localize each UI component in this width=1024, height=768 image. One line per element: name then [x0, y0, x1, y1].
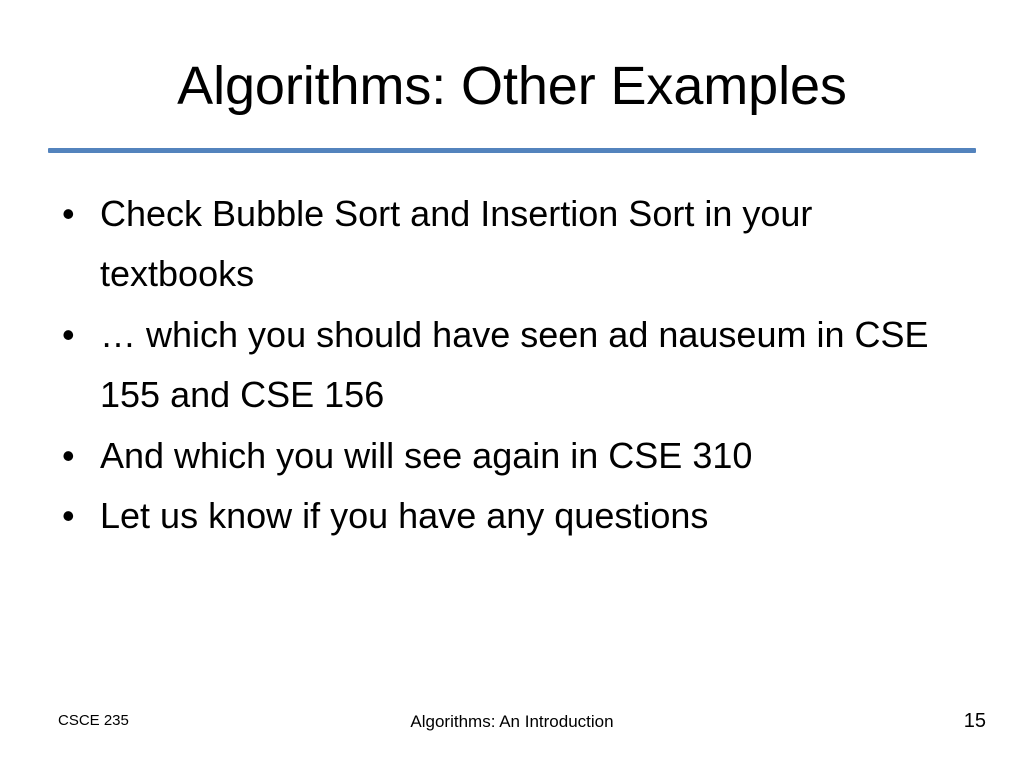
bullet-point-icon: • — [62, 426, 75, 486]
title-block: Algorithms: Other Examples — [48, 58, 976, 115]
slide-footer: CSCE 235 Algorithms: An Introduction 15 — [0, 712, 1024, 736]
list-item-text: And which you will see again in CSE 310 — [100, 426, 968, 486]
list-item-text: Let us know if you have any questions — [100, 486, 968, 546]
footer-page-number: 15 — [964, 710, 986, 733]
footer-deck-title: Algorithms: An Introduction — [0, 712, 1024, 732]
list-item: • Let us know if you have any questions — [52, 486, 968, 546]
bullet-point-icon: • — [62, 184, 75, 244]
list-item: • … which you should have seen ad nauseu… — [52, 305, 968, 426]
bullet-point-icon: • — [62, 486, 75, 546]
list-item: • Check Bubble Sort and Insertion Sort i… — [52, 184, 968, 305]
list-item-text: Check Bubble Sort and Insertion Sort in … — [100, 184, 930, 305]
slide: Algorithms: Other Examples • Check Bubbl… — [0, 0, 1024, 768]
bullet-list: • Check Bubble Sort and Insertion Sort i… — [52, 184, 968, 547]
list-item-text: … which you should have seen ad nauseum … — [100, 305, 950, 426]
list-item: • And which you will see again in CSE 31… — [52, 426, 968, 486]
page-title: Algorithms: Other Examples — [48, 58, 976, 115]
title-divider-rule — [48, 148, 976, 153]
bullet-point-icon: • — [62, 305, 75, 365]
